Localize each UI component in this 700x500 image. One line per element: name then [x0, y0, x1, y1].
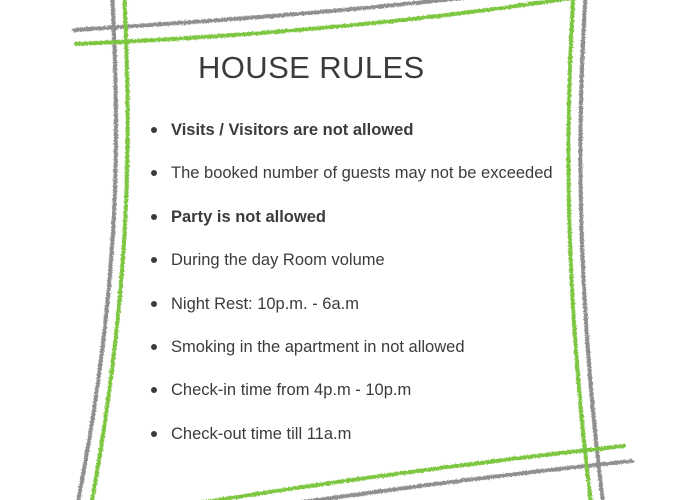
rule-text: Visits / Visitors are not allowed — [171, 118, 413, 142]
list-item: Night Rest: 10p.m. - 6a.m — [150, 292, 570, 335]
bullet-icon — [151, 301, 157, 307]
rule-text: Check-out time till 11a.m — [171, 422, 351, 446]
house-rules-poster: HOUSE RULES Visits / Visitors are not al… — [0, 0, 700, 500]
rules-list: Visits / Visitors are not allowed The bo… — [150, 118, 570, 465]
list-item: Visits / Visitors are not allowed — [150, 118, 570, 161]
bullet-icon — [151, 344, 157, 350]
poster-content: HOUSE RULES Visits / Visitors are not al… — [0, 0, 700, 500]
list-item: Party is not allowed — [150, 205, 570, 248]
list-item: The booked number of guests may not be e… — [150, 161, 570, 204]
bullet-icon — [151, 431, 157, 437]
rule-text: During the day Room volume — [171, 248, 385, 272]
list-item: During the day Room volume — [150, 248, 570, 291]
bullet-icon — [151, 214, 157, 220]
rule-text: Party is not allowed — [171, 205, 326, 229]
rule-text: The booked number of guests may not be e… — [171, 161, 553, 185]
list-item: Check-out time till 11a.m — [150, 422, 570, 465]
rule-text: Smoking in the apartment in not allowed — [171, 335, 465, 359]
page-title: HOUSE RULES — [198, 50, 425, 86]
bullet-icon — [151, 127, 157, 133]
list-item: Check-in time from 4p.m - 10p.m — [150, 378, 570, 421]
rule-text: Night Rest: 10p.m. - 6a.m — [171, 292, 359, 316]
bullet-icon — [151, 387, 157, 393]
rule-text: Check-in time from 4p.m - 10p.m — [171, 378, 411, 402]
bullet-icon — [151, 257, 157, 263]
list-item: Smoking in the apartment in not allowed — [150, 335, 570, 378]
bullet-icon — [151, 170, 157, 176]
